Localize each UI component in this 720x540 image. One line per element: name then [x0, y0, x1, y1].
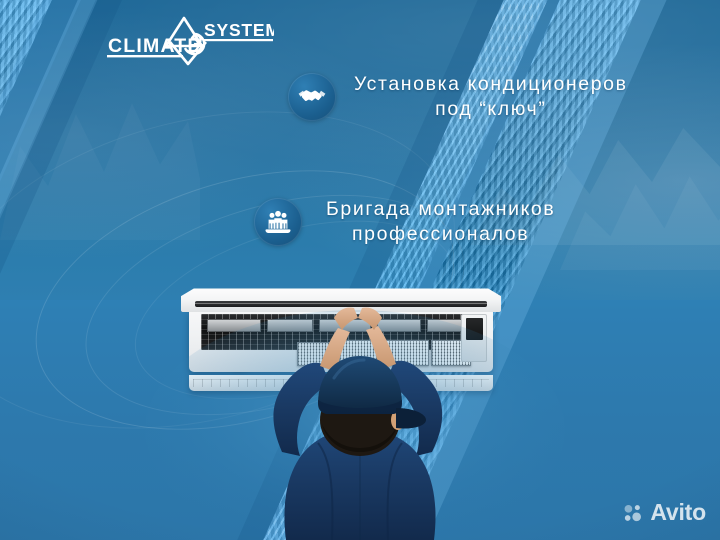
feature-text-turnkey-installation: Установка кондиционеров под “ключ” [354, 46, 628, 149]
ac-coil-block [207, 319, 261, 332]
feature-item-professional-team: Бригада монтажников профессионалов [0, 171, 720, 274]
avito-dots-icon [623, 503, 643, 523]
ac-intake-slot [195, 301, 487, 307]
poster-canvas: CLIMATE SYSTEMS [0, 0, 720, 540]
avito-watermark: Avito [623, 499, 706, 526]
ac-coil-block [267, 319, 313, 332]
ac-front-cover-open [181, 288, 501, 312]
ac-filter-panel [385, 340, 429, 366]
handshake-icon [288, 73, 336, 121]
logo-text-systems: SYSTEMS [204, 20, 274, 40]
air-conditioner-unit [181, 288, 501, 393]
ac-filter-panel [297, 342, 337, 366]
ac-coil-block [377, 319, 421, 332]
feature-text-professional-team: Бригада монтажников профессионалов [320, 171, 555, 274]
team-people-icon [254, 198, 302, 246]
ac-body [189, 310, 493, 372]
ac-filter-panel [339, 340, 383, 366]
ac-coil-block [319, 319, 371, 332]
ac-display-window [466, 318, 483, 340]
ac-air-louver [189, 375, 493, 391]
feature-line-1: Бригада монтажников [326, 198, 555, 220]
avito-label: Avito [650, 499, 706, 526]
feature-item-turnkey-installation: Установка кондиционеров под “ключ” [0, 46, 720, 149]
feature-line-2: профессионалов [326, 222, 555, 248]
feature-line-2: под “ключ” [354, 97, 628, 123]
feature-line-1: Установка кондиционеров [354, 73, 628, 95]
